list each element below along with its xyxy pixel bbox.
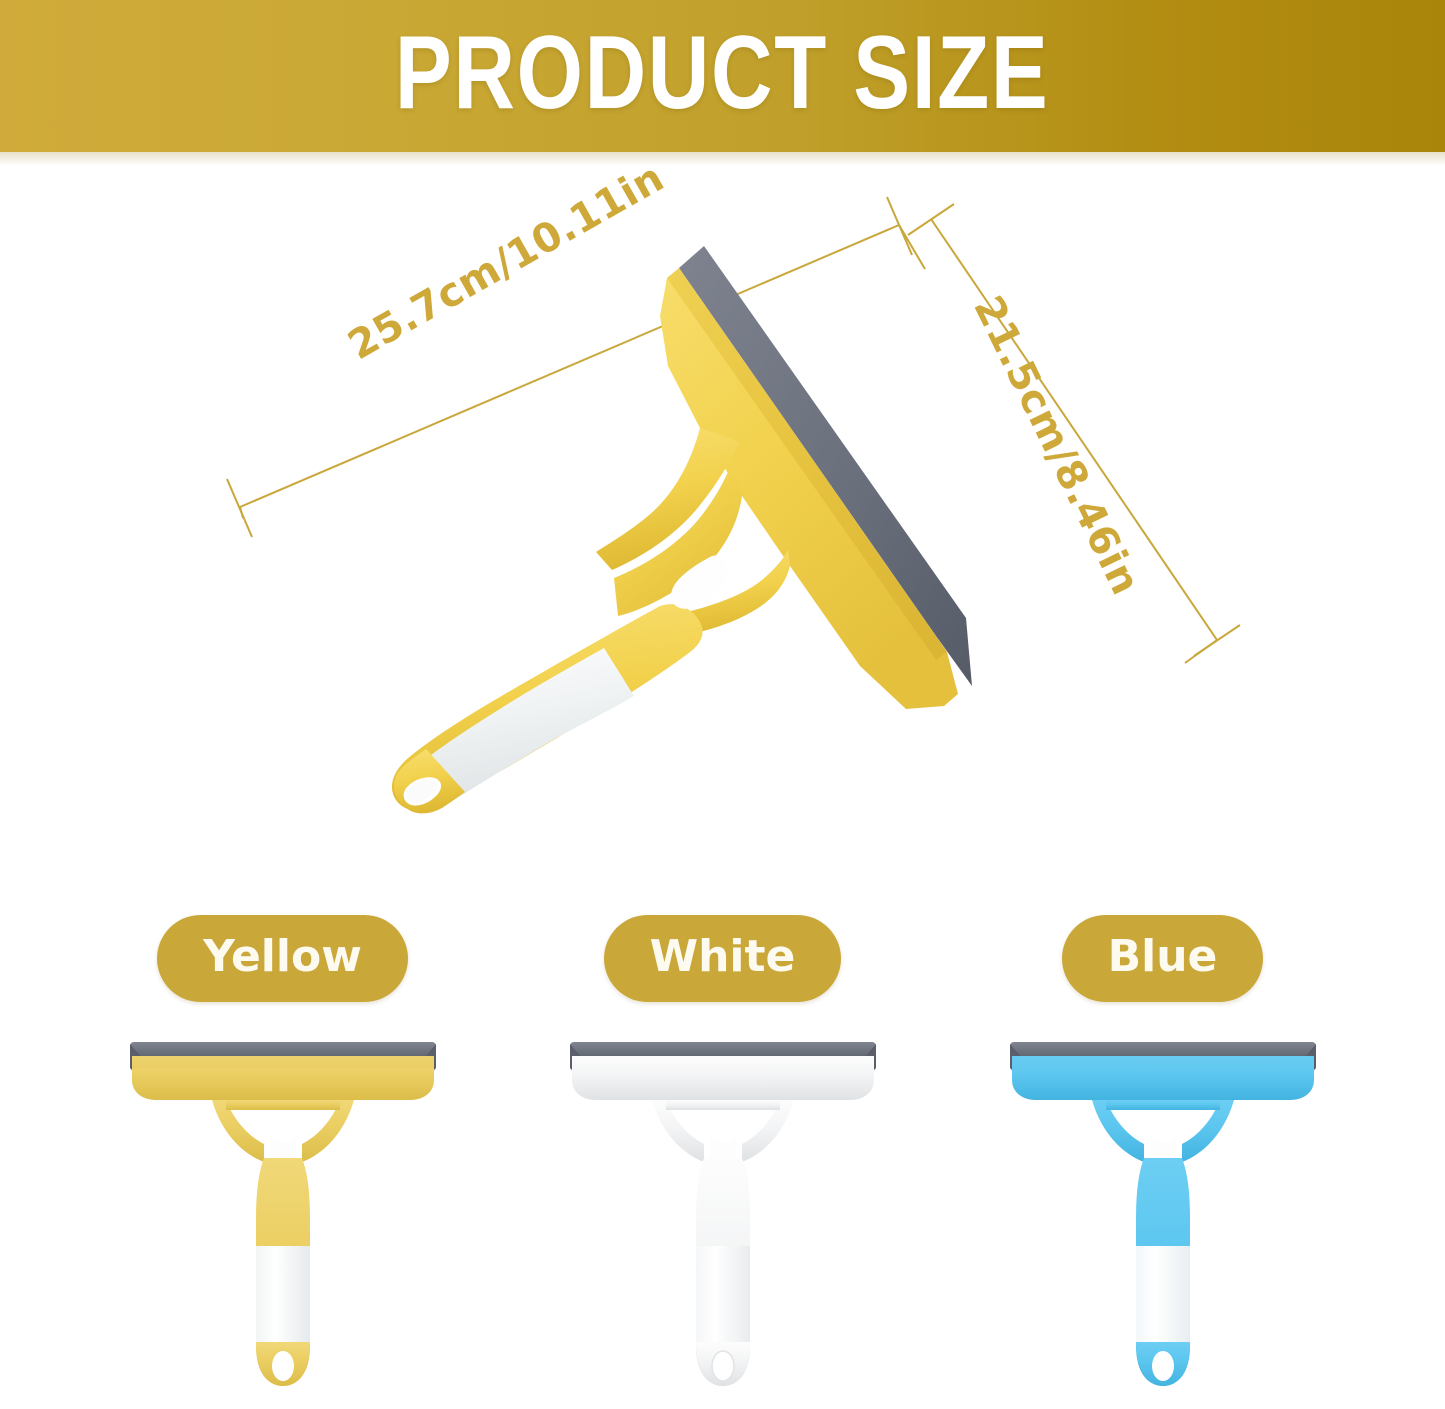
hero-handle	[392, 604, 703, 813]
variant-blue[interactable]: Blue	[943, 915, 1383, 1404]
variant-illustration-white	[558, 1024, 888, 1404]
product-size-infographic: PRODUCT SIZE	[0, 0, 1445, 1409]
variant-illustration-blue	[998, 1024, 1328, 1404]
variant-illustration-yellow	[118, 1024, 448, 1404]
header-banner: PRODUCT SIZE	[0, 0, 1445, 152]
variant-badge-blue: Blue	[1062, 915, 1264, 1002]
hero-section: 25.7cm/10.11in 21.5cm/8.46in	[0, 166, 1445, 906]
variant-badge-white: White	[604, 915, 842, 1002]
banner-shadow	[0, 152, 1445, 166]
hero-product-illustration	[0, 166, 1445, 906]
variant-white[interactable]: White	[503, 915, 943, 1404]
page-title: PRODUCT SIZE	[395, 21, 1050, 131]
variant-yellow[interactable]: Yellow	[63, 915, 503, 1404]
color-variants-row: Yellow	[0, 915, 1445, 1409]
variant-badge-yellow: Yellow	[157, 915, 408, 1002]
